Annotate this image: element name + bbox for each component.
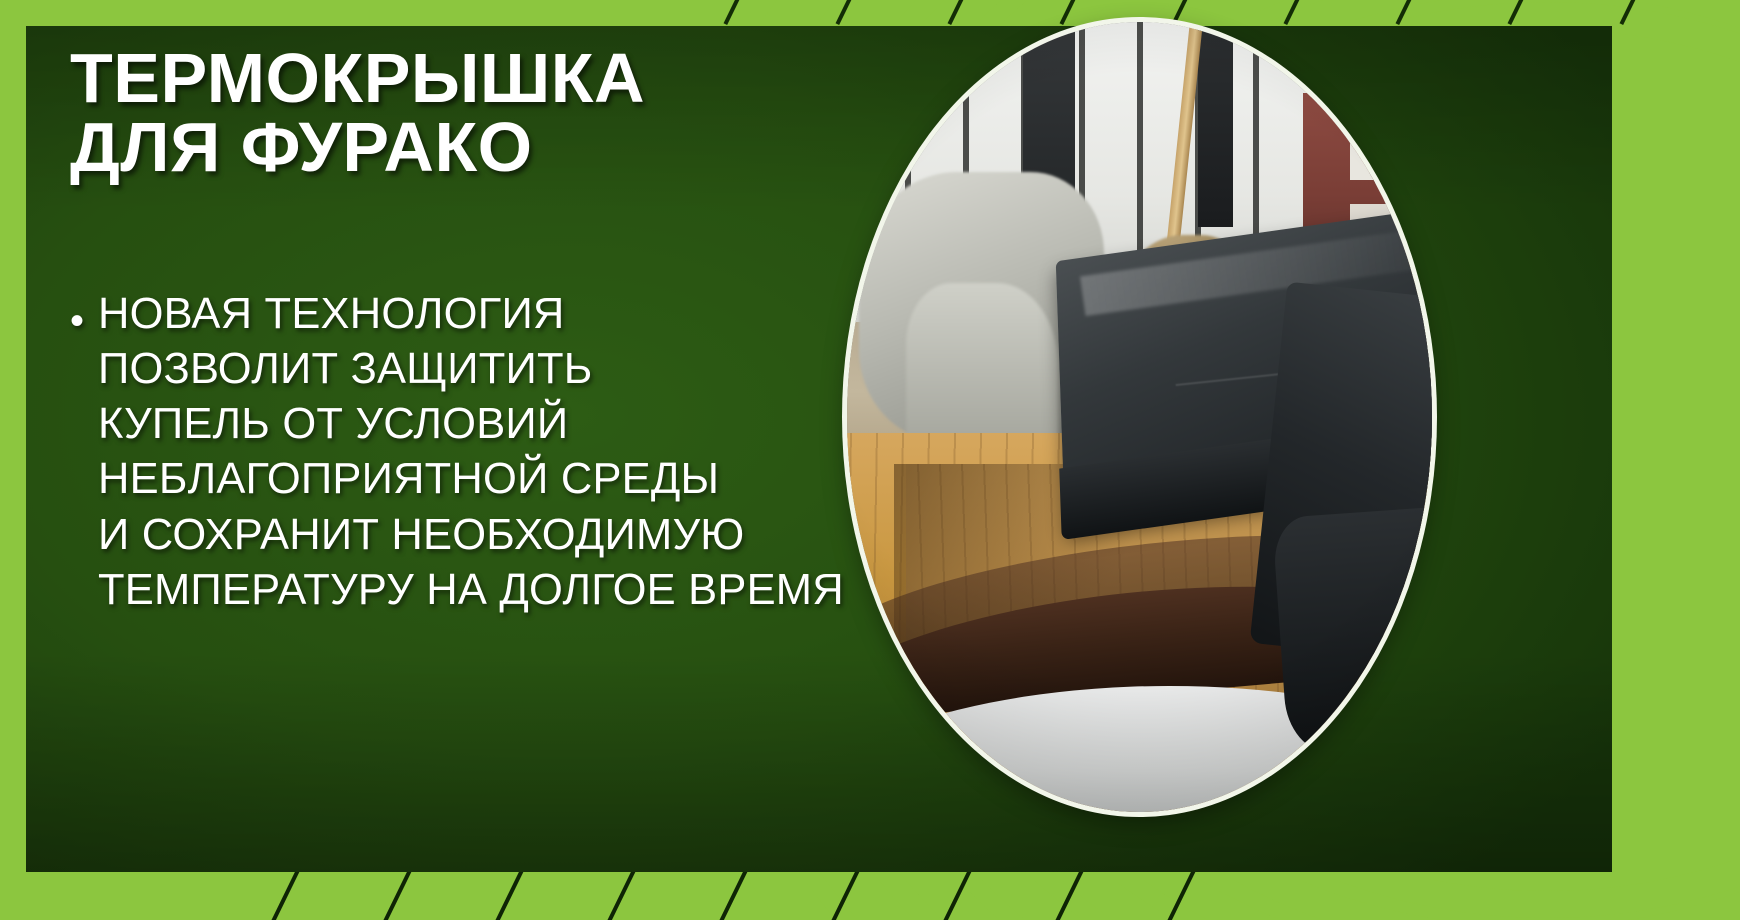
- photo-thermo-cover-drape: [1272, 506, 1432, 755]
- product-photo-circle: [847, 22, 1432, 812]
- page-title: ТЕРМОКРЫШКА ДЛЯ ФУРАКО: [70, 44, 900, 183]
- bullet-dot-icon: •: [70, 301, 84, 341]
- list-item: • НОВАЯ ТЕХНОЛОГИЯ ПОЗВОЛИТ ЗАЩИТИТЬ КУП…: [70, 287, 900, 618]
- text-content: ТЕРМОКРЫШКА ДЛЯ ФУРАКО • НОВАЯ ТЕХНОЛОГИ…: [70, 44, 900, 618]
- bullet-list: • НОВАЯ ТЕХНОЛОГИЯ ПОЗВОЛИТ ЗАЩИТИТЬ КУП…: [70, 287, 900, 618]
- product-photo: [847, 22, 1432, 812]
- bullet-item-label: НОВАЯ ТЕХНОЛОГИЯ ПОЗВОЛИТ ЗАЩИТИТЬ КУПЕЛ…: [98, 287, 844, 618]
- photo-dark-post-right: [1198, 22, 1233, 227]
- promo-banner: ТЕРМОКРЫШКА ДЛЯ ФУРАКО • НОВАЯ ТЕХНОЛОГИ…: [0, 0, 1740, 920]
- photo-red-cabinet-panel: [1350, 125, 1403, 180]
